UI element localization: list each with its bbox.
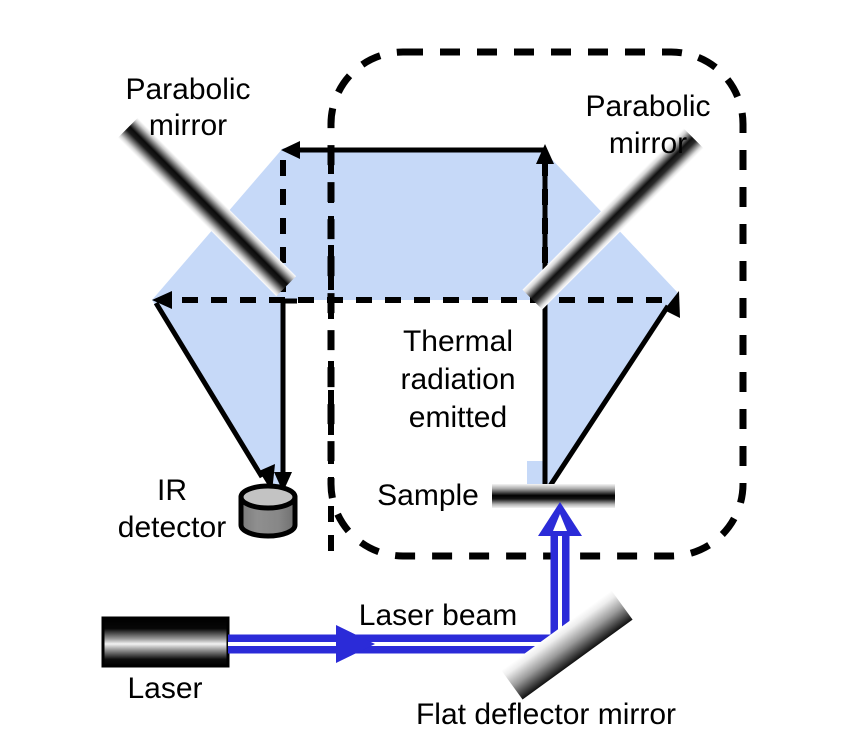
label-ir-detector-line1: IR	[157, 474, 187, 507]
laser-body	[103, 618, 228, 666]
optical-setup-diagram: Parabolic mirror Parabolic mirror Therma…	[0, 0, 841, 752]
label-parabolic-mirror-left-line2: mirror	[149, 109, 227, 142]
label-ir-detector-line2: detector	[118, 511, 226, 544]
beam-region-collimated	[283, 148, 545, 300]
label-laser: Laser	[127, 672, 202, 705]
label-thermal-radiation-line1: Thermal	[403, 325, 513, 358]
sample[interactable]	[492, 484, 615, 508]
label-parabolic-mirror-right-line2: mirror	[609, 127, 687, 160]
label-laser-beam: Laser beam	[359, 599, 517, 632]
sample-bar	[492, 484, 615, 508]
label-thermal-radiation-line2: radiation	[400, 363, 515, 396]
figure-root: Parabolic mirror Parabolic mirror Therma…	[0, 0, 841, 752]
label-flat-deflector-mirror: Flat deflector mirror	[416, 698, 676, 731]
ir-detector[interactable]	[241, 486, 295, 536]
label-parabolic-mirror-left-line1: Parabolic	[125, 73, 250, 106]
detector-top-face	[241, 486, 295, 508]
label-sample: Sample	[377, 479, 479, 512]
label-thermal-radiation-line3: emitted	[409, 401, 507, 434]
laser-source[interactable]	[103, 618, 228, 666]
label-parabolic-mirror-right-line1: Parabolic	[585, 90, 710, 123]
